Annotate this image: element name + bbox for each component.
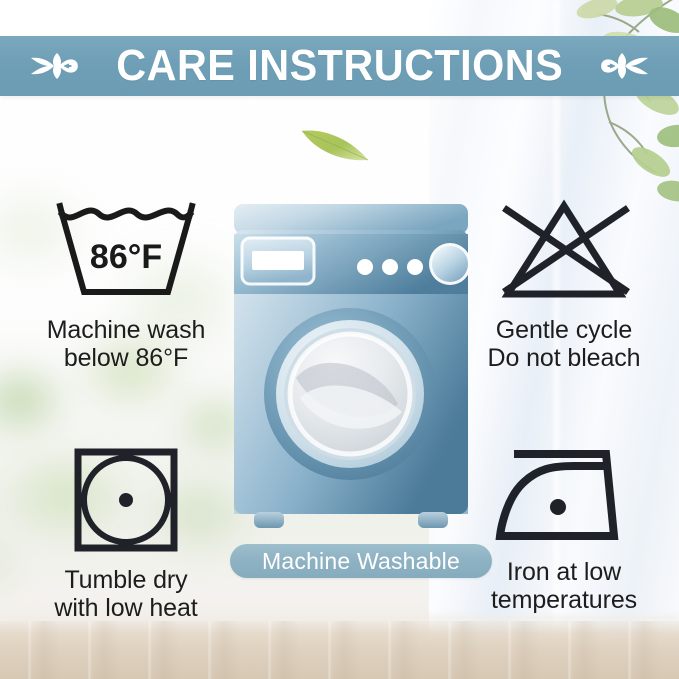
do-not-bleach-triangle-icon [488,196,640,306]
care-symbol-tumble-dry: Tumble dry with low heat [12,444,240,622]
wash-tub-icon: 86°F [50,196,202,306]
fleur-de-lis-icon [28,44,86,88]
care-symbol-caption: Machine wash below 86°F [47,316,206,372]
care-instructions-infographic: CARE INSTRUCTIONS 86°F Machine wash belo… [0,0,679,679]
care-symbol-iron: Iron at low temperatures [452,444,676,614]
machine-washable-badge: Machine Washable [230,544,492,578]
badge-label: Machine Washable [262,550,460,573]
fleur-de-lis-icon [593,44,651,88]
machine-foot [254,512,284,528]
machine-foot [418,512,448,528]
front-load-washing-machine-illustration [226,198,476,538]
indicator-light [407,259,423,275]
leaf-branch-decoration [535,0,679,216]
care-symbol-caption: Gentle cycle Do not bleach [488,316,641,372]
care-symbol-do-not-bleach: Gentle cycle Do not bleach [452,196,676,372]
floating-leaf-decoration [298,122,374,166]
page-title: CARE INSTRUCTIONS [116,44,563,88]
background-wooden-table [0,621,679,679]
wash-temperature-value: 86°F [90,238,162,276]
care-symbol-caption: Tumble dry with low heat [54,566,197,622]
control-knob-icon [432,246,468,282]
care-symbol-machine-wash: 86°F Machine wash below 86°F [10,196,242,372]
iron-low-heat-icon [490,444,638,548]
care-symbol-caption: Iron at low temperatures [491,558,637,614]
indicator-light [382,259,398,275]
header-banner: CARE INSTRUCTIONS [0,36,679,96]
indicator-light [357,259,373,275]
tumble-dry-low-icon [70,444,182,556]
